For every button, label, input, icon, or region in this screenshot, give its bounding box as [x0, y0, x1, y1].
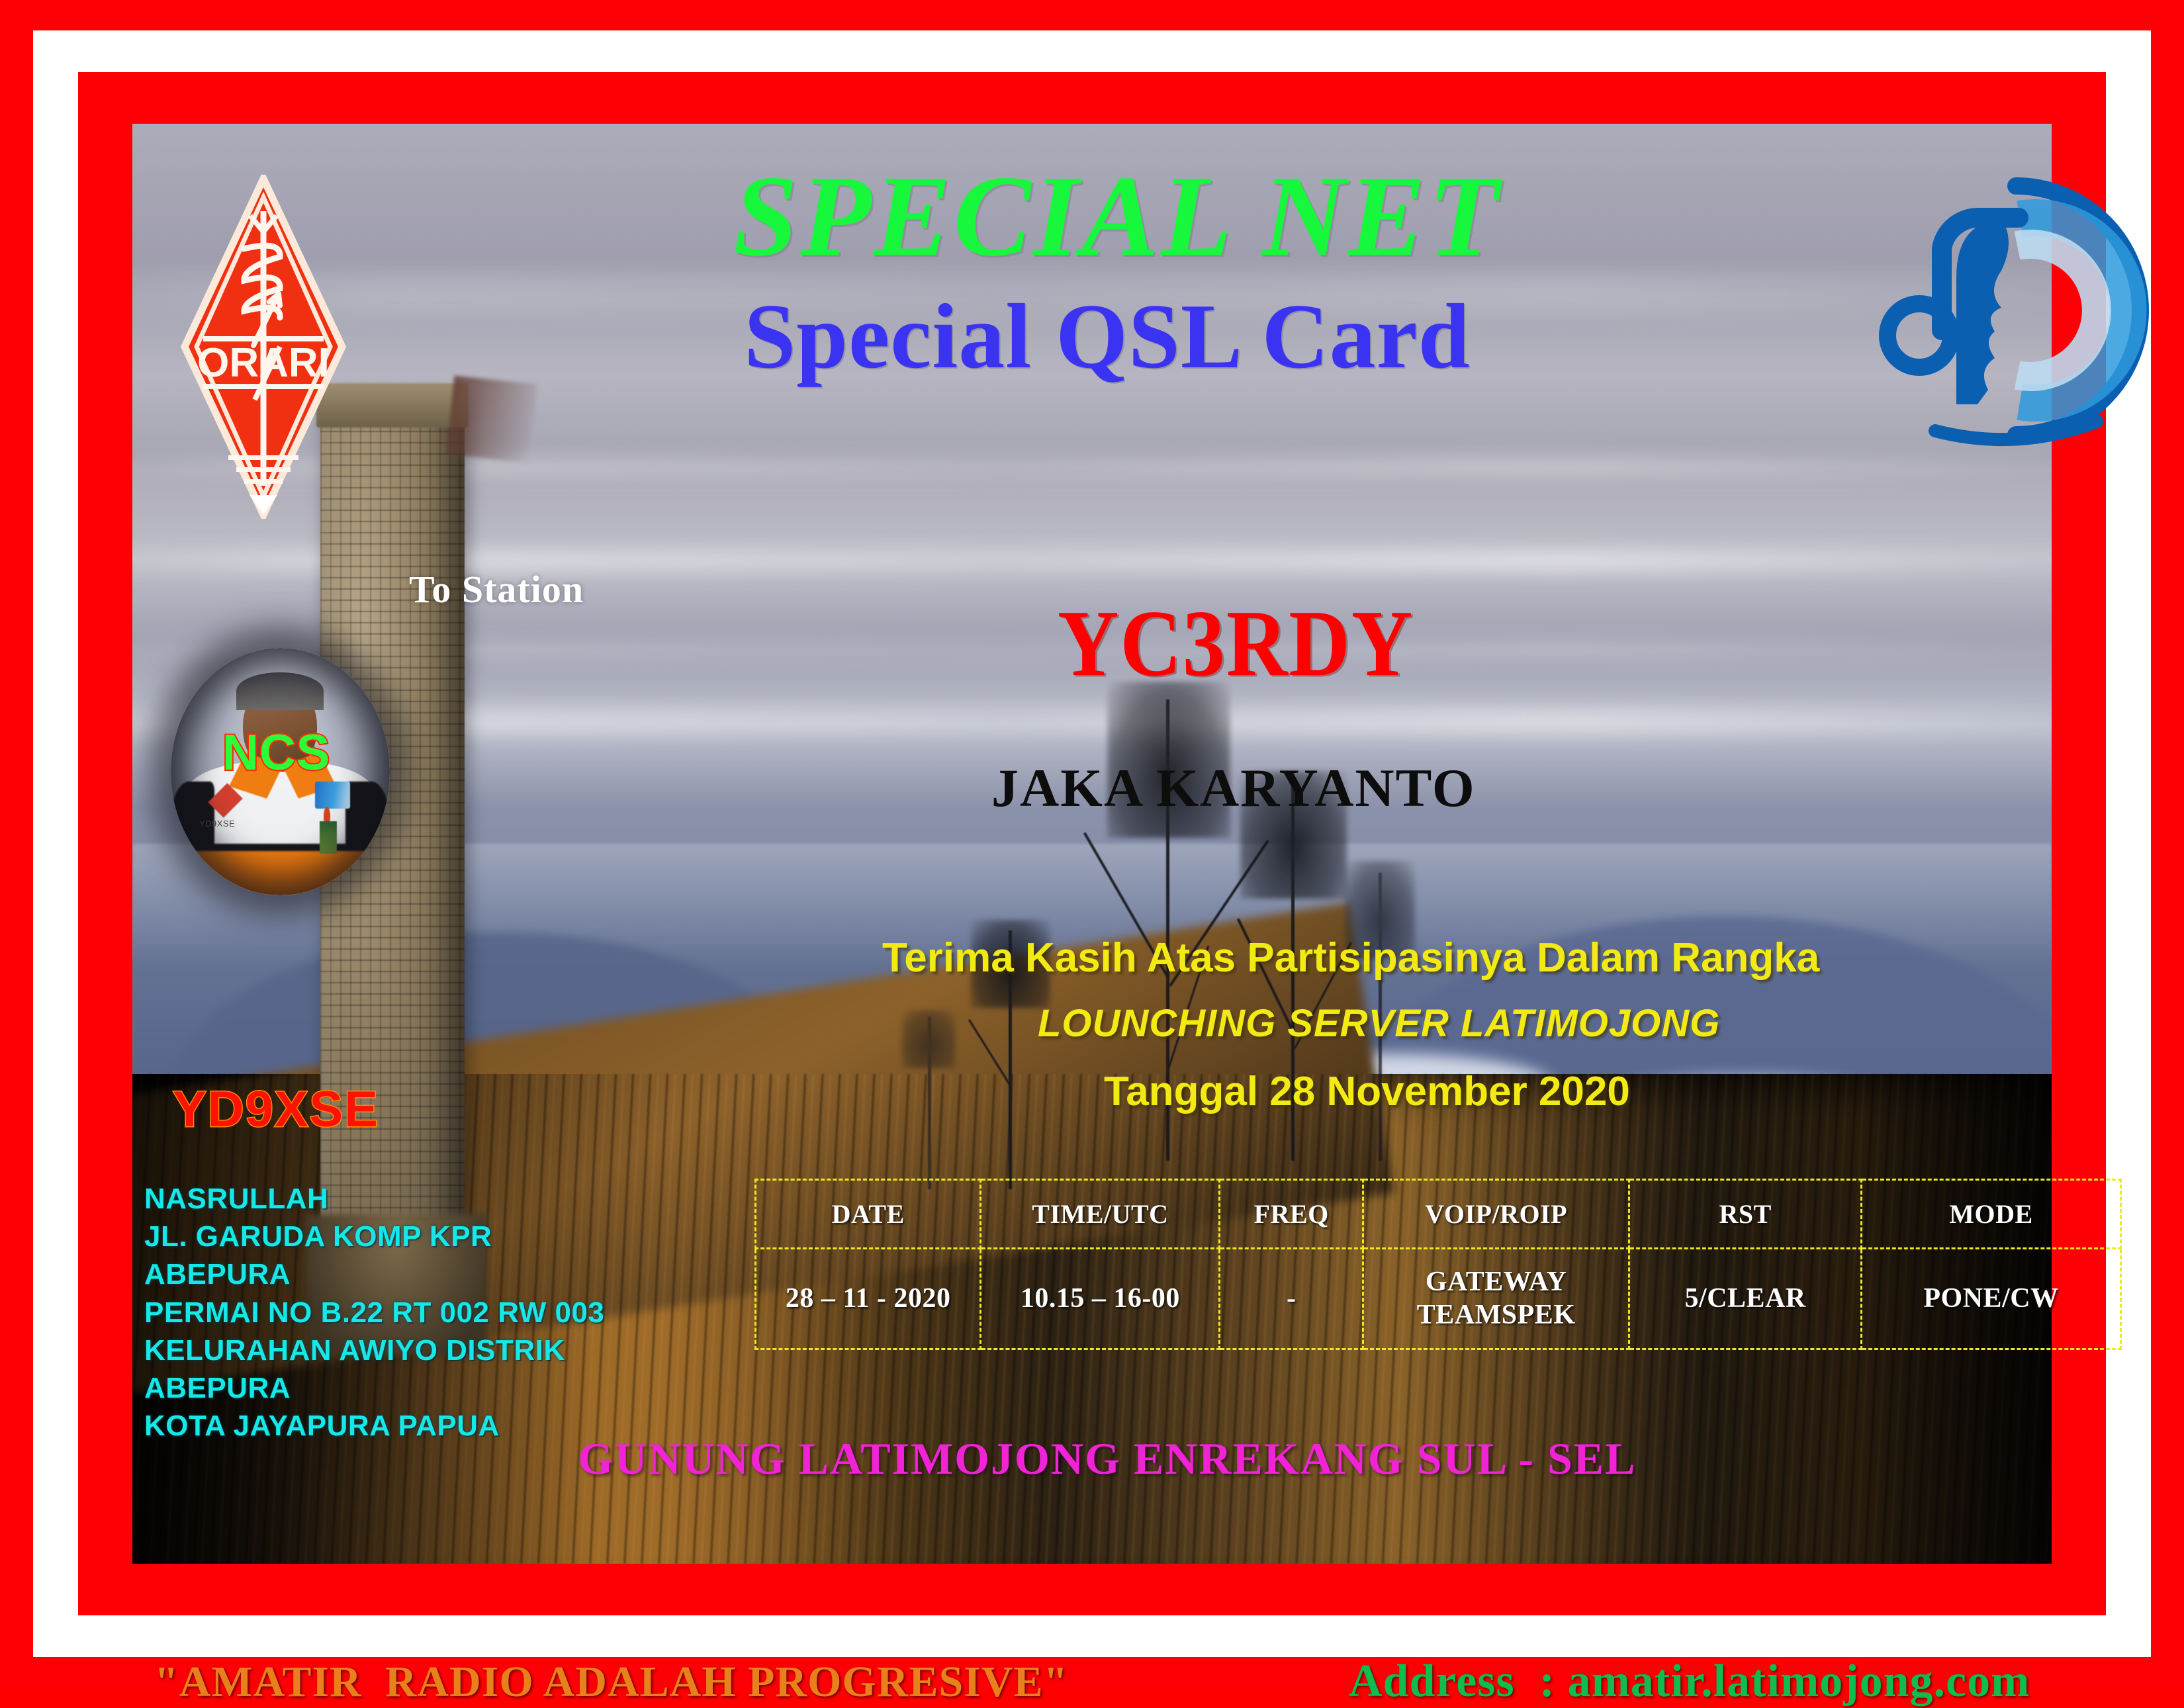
cell-rst: 5/CLEAR: [1629, 1249, 1862, 1349]
ncs-label: NCS: [222, 724, 330, 782]
address-line: KELURAHAN AWIYO DISTRIK: [144, 1331, 604, 1369]
column-header-rst: RST: [1629, 1180, 1862, 1249]
address-block: NASRULLAH JL. GARUDA KOMP KPR ABEPURA PE…: [144, 1180, 604, 1445]
table-row: 28 – 11 - 2020 10.15 – 16-00 - GATEWAYTE…: [756, 1249, 2121, 1349]
frame-inner-red: YD9XSE ORARI: [78, 72, 2106, 1615]
address-line: ABEPURA: [144, 1255, 604, 1293]
frame-white-gap: YD9XSE ORARI: [33, 30, 2151, 1657]
station-callsign: YC3RDY: [1058, 589, 1414, 698]
address-line: PERMAI NO B.22 RT 002 RW 003: [144, 1294, 604, 1331]
page-subtitle: Special QSL Card: [78, 291, 2106, 383]
cell-time: 10.15 – 16-00: [981, 1249, 1220, 1349]
ncs-callsign: YD9XSE: [173, 1081, 379, 1138]
thanks-line-1: Terima Kasih Atas Partisipasinya Dalam R…: [882, 934, 1819, 981]
table-header-row: DATE TIME/UTC FREQ VOIP/ROIP RST MODE: [756, 1180, 2121, 1249]
qsl-card: YD9XSE ORARI: [0, 0, 2184, 1687]
thanks-line-3: Tanggal 28 November 2020: [1104, 1068, 1630, 1115]
page-title: SPECIAL NET: [78, 158, 2106, 274]
column-header-mode: MODE: [1862, 1180, 2121, 1249]
cell-date: 28 – 11 - 2020: [756, 1249, 981, 1349]
footer-address: Address : amatir.latimojong.com: [1349, 1655, 2030, 1708]
tree-branch: [968, 1019, 1011, 1086]
operator-name: JAKA KARYANTO: [991, 757, 1476, 819]
column-header-freq: FREQ: [1220, 1180, 1363, 1249]
thanks-line-2: LOUNCHING SERVER LATIMOJONG: [1038, 1001, 1720, 1046]
pillar-top-wisp: [446, 376, 537, 463]
cell-mode: PONE/CW: [1862, 1249, 2121, 1349]
qso-log-table: DATE TIME/UTC FREQ VOIP/ROIP RST MODE 28…: [754, 1179, 2122, 1350]
bare-tree: [900, 1016, 958, 1189]
column-header-date: DATE: [756, 1180, 981, 1249]
cell-freq: -: [1220, 1249, 1363, 1349]
address-line: ABEPURA: [144, 1369, 604, 1407]
mountain-location-label: GUNUNG LATIMOJONG ENREKANG SUL - SEL: [78, 1433, 2106, 1485]
cell-voip: GATEWAYTEAMSPEK: [1363, 1249, 1629, 1349]
column-header-voip: VOIP/ROIP: [1363, 1180, 1629, 1249]
address-line: NASRULLAH: [144, 1180, 604, 1218]
tree-trunk: [928, 1016, 931, 1189]
footer-slogan: "AMATIR RADIO ADALAH PROGRESIVE": [154, 1657, 1068, 1707]
column-header-time: TIME/UTC: [981, 1180, 1220, 1249]
to-station-label: To Station: [409, 567, 584, 611]
address-line: JL. GARUDA KOMP KPR: [144, 1218, 604, 1255]
